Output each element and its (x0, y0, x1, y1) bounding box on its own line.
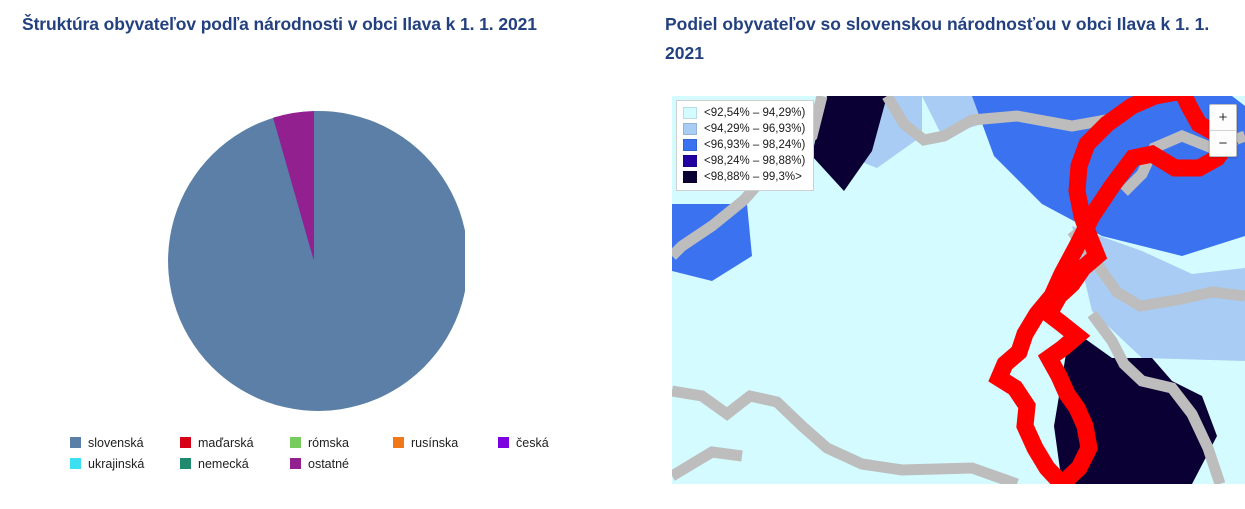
legend-swatch-madarska (180, 437, 191, 448)
legend-swatch-rusinska (393, 437, 404, 448)
legend-swatch-slovenska (70, 437, 81, 448)
legend-item-ostatne[interactable]: ostatné (290, 453, 349, 474)
legend-item-nemecka[interactable]: nemecká (180, 453, 290, 474)
legend-label-madarska: maďarská (198, 436, 254, 450)
legend-item-rusinska[interactable]: rusínska (393, 432, 498, 453)
map-legend-row: <94,29% – 96,93%) (683, 121, 805, 137)
legend-label-ukrajinska: ukrajinská (88, 457, 144, 471)
legend-swatch-ceska (498, 437, 509, 448)
pie-slice-slovenska (168, 111, 465, 411)
map-legend-swatch-2 (683, 123, 697, 135)
map-legend-label-3: <96,93% – 98,24%) (704, 139, 805, 151)
legend-label-slovenska: slovenská (88, 436, 144, 450)
map-legend-row: <98,88% – 99,3%> (683, 169, 805, 185)
pie-chart-panel: Štruktúra obyvateľov podľa národnosti v … (0, 0, 640, 509)
legend-swatch-nemecka (180, 458, 191, 469)
map-legend-label-2: <94,29% – 96,93%) (704, 123, 805, 135)
map-legend-swatch-5 (683, 171, 697, 183)
map-legend-swatch-1 (683, 107, 697, 119)
legend-swatch-romska (290, 437, 301, 448)
map-legend-row: <96,93% – 98,24%) (683, 137, 805, 153)
legend-item-slovenska[interactable]: slovenská (70, 432, 180, 453)
map-zoom-controls: + − (1209, 104, 1237, 157)
legend-label-nemecka: nemecká (198, 457, 249, 471)
map-legend-swatch-3 (683, 139, 697, 151)
map-title: Podiel obyvateľov so slovenskou národnos… (665, 10, 1225, 68)
map-legend-row: <92,54% – 94,29%) (683, 105, 805, 121)
map-legend-label-5: <98,88% – 99,3%> (704, 171, 802, 183)
legend-item-madarska[interactable]: maďarská (180, 432, 290, 453)
map-legend-label-4: <98,24% – 98,88%) (704, 155, 805, 167)
zoom-in-button[interactable]: + (1210, 105, 1236, 131)
pie-legend: slovenská maďarská rómska rusínska česká (70, 432, 630, 474)
legend-label-ceska: česká (516, 436, 549, 450)
legend-label-rusinska: rusínska (411, 436, 458, 450)
map-legend-swatch-4 (683, 155, 697, 167)
legend-label-romska: rómska (308, 436, 349, 450)
pie-chart-graphic (163, 110, 465, 412)
legend-swatch-ukrajinska (70, 458, 81, 469)
pie-svg (163, 110, 465, 412)
pie-chart-title: Štruktúra obyvateľov podľa národnosti v … (22, 10, 562, 39)
legend-item-romska[interactable]: rómska (290, 432, 393, 453)
legend-item-ukrajinska[interactable]: ukrajinská (70, 453, 180, 474)
pie-legend-row: ukrajinská nemecká ostatné (70, 453, 630, 474)
map-panel: Podiel obyvateľov so slovenskou národnos… (640, 0, 1245, 509)
pie-legend-row: slovenská maďarská rómska rusínska česká (70, 432, 630, 453)
map-legend-row: <98,24% – 98,88%) (683, 153, 805, 169)
map-legend-label-1: <92,54% – 94,29%) (704, 107, 805, 119)
legend-item-ceska[interactable]: česká (498, 432, 549, 453)
map-viewport[interactable]: <92,54% – 94,29%) <94,29% – 96,93%) <96,… (672, 96, 1245, 484)
map-legend: <92,54% – 94,29%) <94,29% – 96,93%) <96,… (676, 100, 814, 191)
legend-label-ostatne: ostatné (308, 457, 349, 471)
zoom-out-button[interactable]: − (1210, 131, 1236, 156)
legend-swatch-ostatne (290, 458, 301, 469)
